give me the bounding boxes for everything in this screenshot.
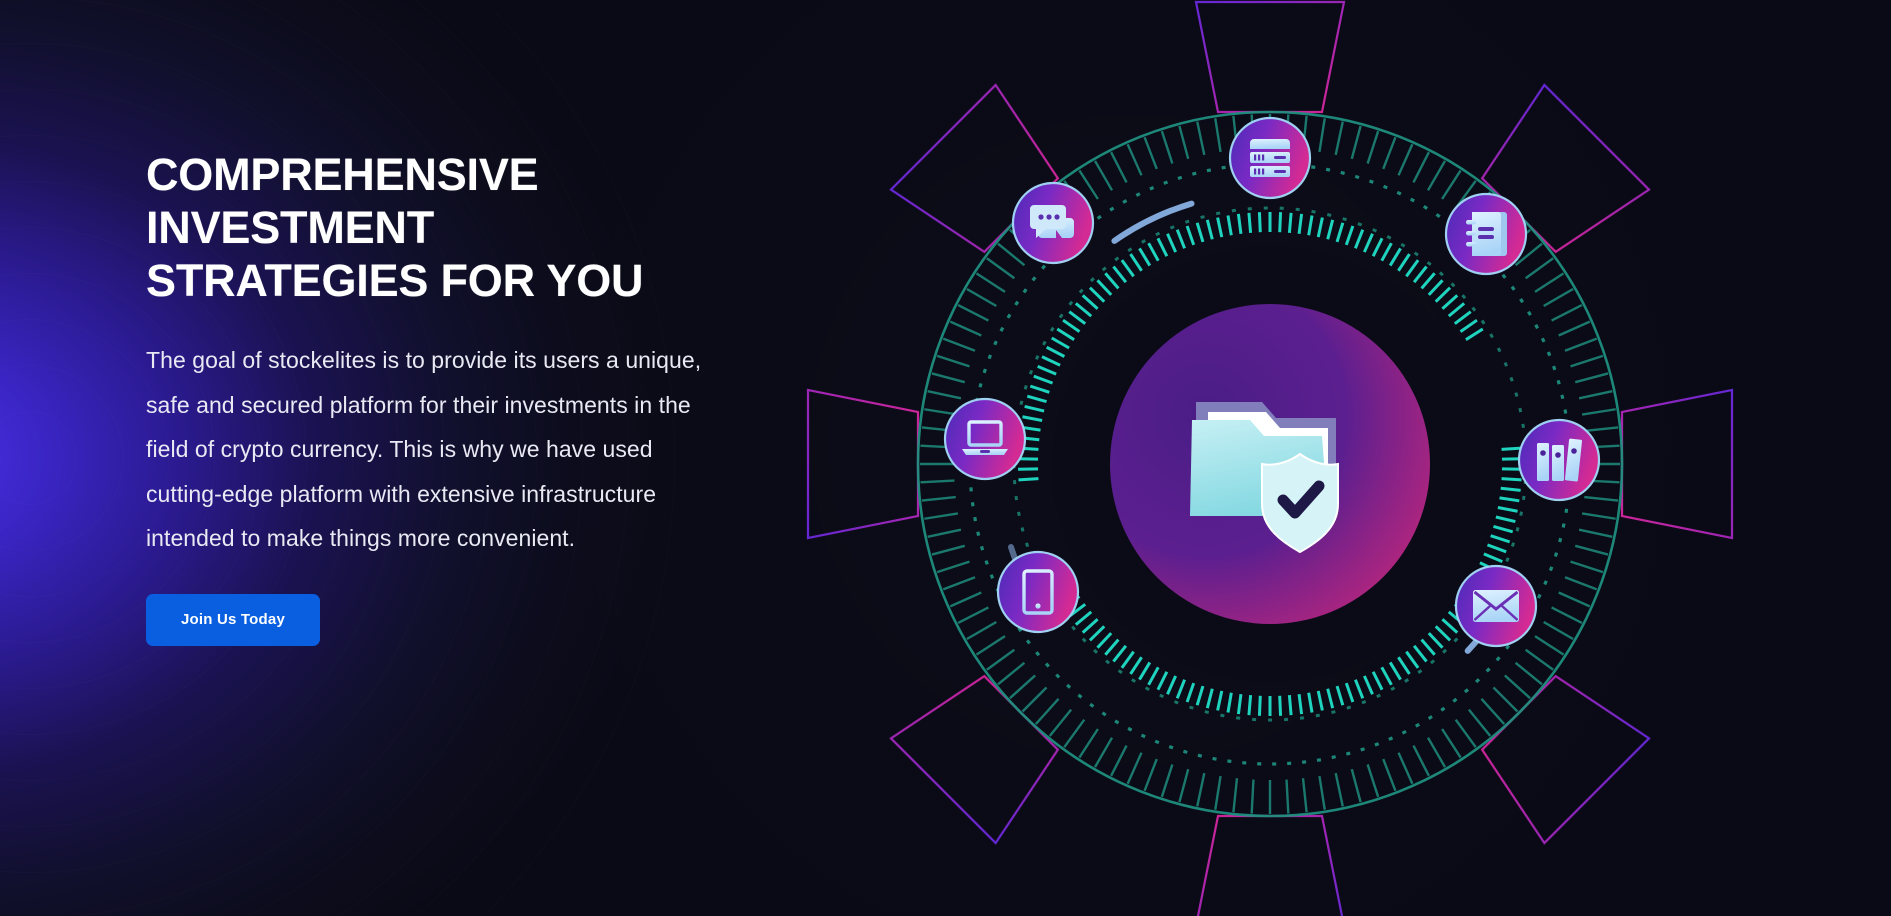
satellite-node-binders[interactable]: [1519, 420, 1599, 500]
server-icon: [1250, 139, 1290, 177]
hero-description: The goal of stockelites is to provide it…: [146, 338, 706, 561]
satellite-node-mobile[interactable]: [998, 552, 1078, 632]
satellite-node-mail[interactable]: [1456, 566, 1536, 646]
satellite-node-laptop[interactable]: [945, 399, 1025, 479]
envelope-icon: [1473, 590, 1519, 622]
notebook-icon: [1466, 212, 1507, 256]
hero-section: COMPREHENSIVE INVESTMENT STRATEGIES FOR …: [0, 0, 1891, 916]
satellite-node-server[interactable]: [1230, 118, 1310, 198]
page-title: COMPREHENSIVE INVESTMENT STRATEGIES FOR …: [146, 148, 806, 307]
satellite-node-notebook[interactable]: [1446, 194, 1526, 274]
satellite-node-chat[interactable]: [1013, 183, 1093, 263]
hero-copy-block: COMPREHENSIVE INVESTMENT STRATEGIES FOR …: [146, 148, 806, 646]
join-us-today-button[interactable]: Join Us Today: [146, 594, 320, 646]
security-network-illustration: [770, 0, 1770, 916]
